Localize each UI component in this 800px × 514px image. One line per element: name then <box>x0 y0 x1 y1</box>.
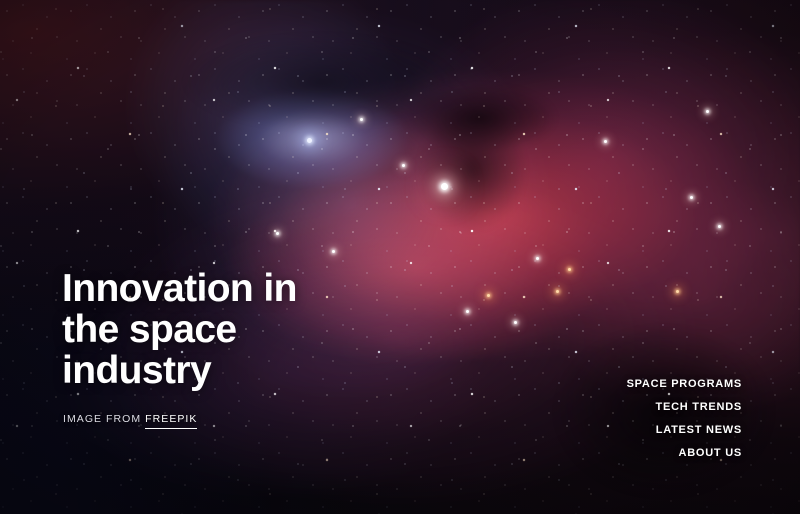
page-title: Innovation in the space industry <box>62 268 392 391</box>
nav-item-about-us[interactable]: ABOUT US <box>679 447 742 460</box>
image-credit-label: IMAGE FROM <box>63 413 141 425</box>
freepik-credit-link[interactable]: FREEPIK <box>145 413 197 429</box>
hero-content: Innovation in the space industry IMAGE F… <box>0 0 800 514</box>
nav-item-latest-news[interactable]: LATEST NEWS <box>656 424 742 437</box>
hero-navigation: SPACE PROGRAMS TECH TRENDS LATEST NEWS A… <box>627 378 742 460</box>
nav-item-space-programs[interactable]: SPACE PROGRAMS <box>627 378 742 391</box>
nav-item-tech-trends[interactable]: TECH TRENDS <box>656 401 742 414</box>
image-credit: IMAGE FROM FREEPIK <box>63 413 197 429</box>
hero-section: Innovation in the space industry IMAGE F… <box>0 0 800 514</box>
